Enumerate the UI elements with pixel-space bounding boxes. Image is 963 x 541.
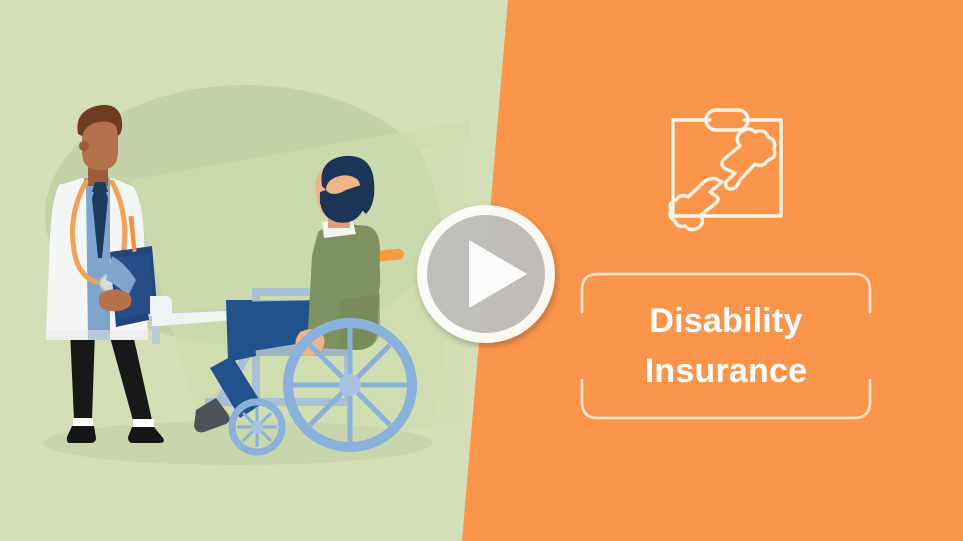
play-button[interactable] xyxy=(412,200,560,348)
topic-title-line-2: Insurance xyxy=(645,346,807,396)
topic-title-block: Disability Insurance xyxy=(580,272,872,420)
doctor-leg-left xyxy=(70,330,95,420)
cast-foot xyxy=(150,296,172,316)
video-thumbnail-card[interactable]: Disability Insurance xyxy=(0,0,963,541)
doctor-hand xyxy=(99,289,132,311)
doctor-sock-right xyxy=(133,419,154,428)
wheelchair-large-wheel xyxy=(288,323,412,447)
patient-knee xyxy=(226,300,256,362)
doctor-sock-left xyxy=(73,418,93,427)
wheelchair-caster xyxy=(232,402,282,452)
doctor-shoe-left xyxy=(67,426,96,443)
doctor-ear xyxy=(79,141,89,151)
topic-title: Disability Insurance xyxy=(580,272,872,420)
doctor-coat-hem xyxy=(46,330,148,340)
topic-title-line-1: Disability xyxy=(649,296,802,346)
